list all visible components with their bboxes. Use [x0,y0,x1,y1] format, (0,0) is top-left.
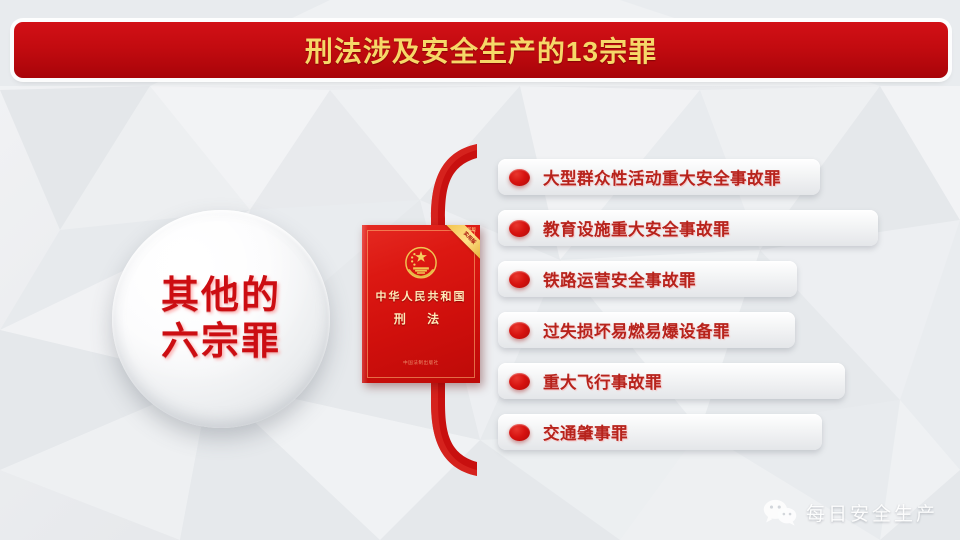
crime-item[interactable]: 铁路运营安全事故罪 [498,261,797,297]
bullet-icon [509,424,530,441]
crime-item-label: 过失损坏易燃易爆设备罪 [543,318,730,342]
bullet-icon [509,322,530,339]
book-title-line1: 中华人民共和国 [362,287,480,308]
bullet-icon [509,169,530,186]
page-title-bar: 刑法涉及安全生产的13宗罪 [14,22,948,78]
crime-item[interactable]: 大型群众性活动重大安全事故罪 [498,159,820,195]
watermark: 每日安全生产 [763,499,938,526]
wechat-icon [763,499,797,526]
hub-circle: 其他的 六宗罪 [112,210,330,428]
bullet-icon [509,373,530,390]
crime-item[interactable]: 交通肇事罪 [498,414,822,450]
crime-item-label: 重大飞行事故罪 [543,369,662,393]
watermark-text: 每日安全生产 [806,499,938,526]
book-corner-tag: 新版 [467,227,476,233]
crime-item-label: 大型群众性活动重大安全事故罪 [543,165,781,189]
hub-label-line2: 六宗罪 [161,319,281,365]
page-title: 刑法涉及安全生产的13宗罪 [305,30,657,70]
crime-item[interactable]: 教育设施重大安全事故罪 [498,210,878,246]
criminal-law-book: 中华人民共和国 刑 法 中国法制出版社 实用版 新版 [362,225,480,383]
crime-item[interactable]: 重大飞行事故罪 [498,363,845,399]
crime-item-label: 铁路运营安全事故罪 [543,267,696,291]
crime-item[interactable]: 过失损坏易燃易爆设备罪 [498,312,795,348]
book-publisher: 中国法制出版社 [362,360,480,366]
book-title-block: 中华人民共和国 刑 法 [362,287,480,331]
hub-label-line1: 其他的 [161,273,281,319]
crime-item-label: 教育设施重大安全事故罪 [543,216,730,240]
bullet-icon [509,271,530,288]
bullet-icon [509,220,530,237]
national-emblem-icon [400,243,442,285]
crime-item-label: 交通肇事罪 [543,420,628,444]
book-title-line2: 刑 法 [362,308,480,331]
